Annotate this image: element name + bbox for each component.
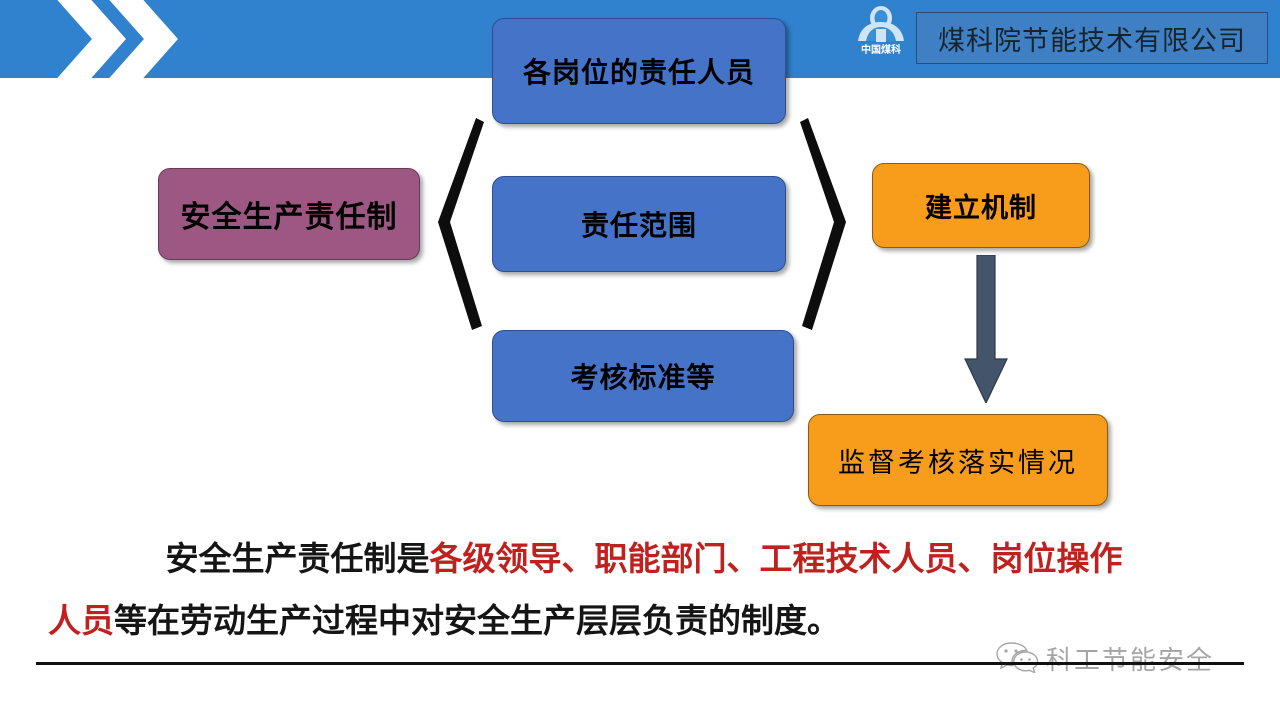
slide-canvas: 中国煤科 煤科院节能技术有限公司 安全生产责任制 各岗位的责任人员 责任范围 考… [0,0,1280,720]
paragraph-plain-1: 安全生产责任制是 [166,539,430,578]
chevron-right-icon [52,0,126,84]
paragraph-plain-2: 等在劳动生产过程中对安全生产层层负责的制度。 [114,601,840,640]
watermark-text: 科工节能安全 [1046,640,1214,677]
node-label: 建立机制 [925,186,1037,225]
arrow-down-icon [963,255,1009,403]
node-post-responsible-personnel[interactable]: 各岗位的责任人员 [492,18,786,124]
paragraph-highlight-2: 人员 [48,601,114,640]
node-label: 考核标准等 [570,356,715,396]
node-establish-mechanism[interactable]: 建立机制 [872,163,1090,248]
node-responsibility-scope[interactable]: 责任范围 [492,176,786,272]
node-supervise-assessment[interactable]: 监督考核落实情况 [808,414,1108,506]
node-label: 监督考核落实情况 [838,441,1078,480]
china-coal-logo-icon [850,5,912,45]
paragraph-highlight-1: 各级领导、职能部门、工程技术人员、岗位操作 [430,539,1123,578]
company-name-box: 煤科院节能技术有限公司 [916,12,1268,64]
company-name-text: 煤科院节能技术有限公司 [938,19,1246,58]
watermark: 科工节能安全 [996,640,1214,677]
paragraph-line-1: 安全生产责任制是各级领导、职能部门、工程技术人员、岗位操作 [28,528,1260,590]
wechat-icon [996,641,1040,677]
node-label: 安全生产责任制 [181,192,398,236]
node-assessment-standards[interactable]: 考核标准等 [492,330,794,422]
logo-caption: 中国煤科 [848,45,914,57]
china-coal-logo: 中国煤科 [848,5,914,67]
left-angle-brace-icon [438,118,484,330]
right-angle-brace-icon [800,118,846,330]
node-label: 各岗位的责任人员 [523,51,755,91]
node-label: 责任范围 [581,204,697,244]
definition-paragraph: 安全生产责任制是各级领导、职能部门、工程技术人员、岗位操作 人员等在劳动生产过程… [28,528,1260,652]
footer-divider [36,662,1244,665]
node-responsibility-system[interactable]: 安全生产责任制 [158,168,420,260]
